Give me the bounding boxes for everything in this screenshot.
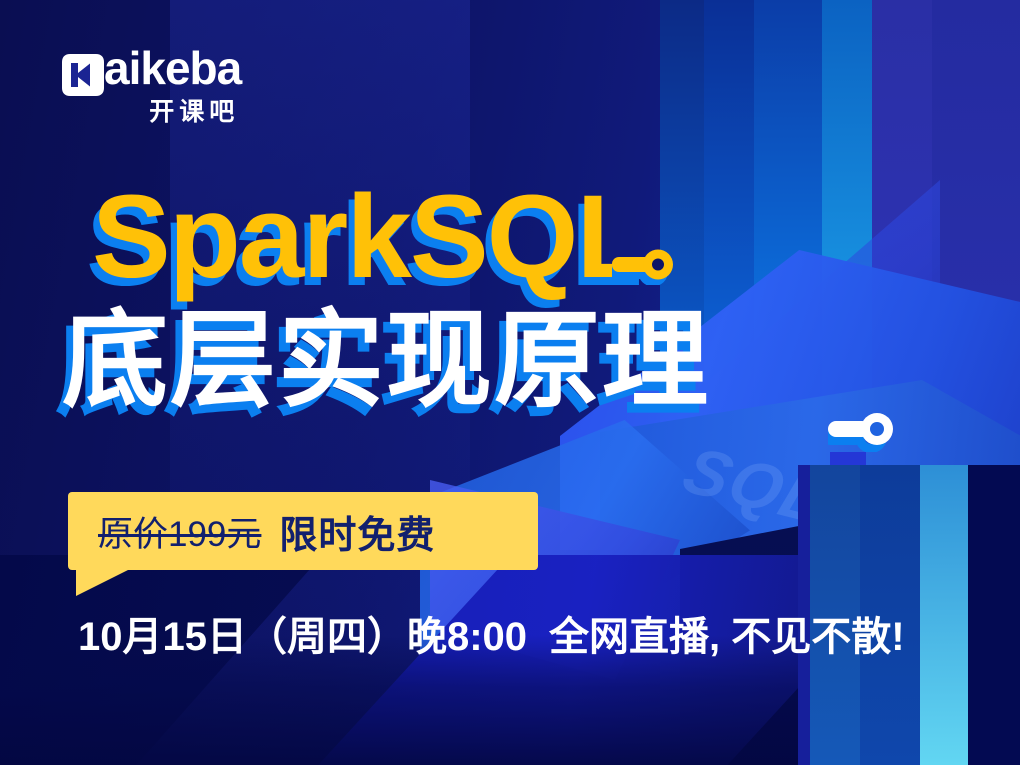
hero-title-english: SparkSQL [92, 178, 647, 296]
price-badge: 原价199元 限时免费 [68, 492, 538, 570]
logo-wordmark: aikeba [104, 46, 241, 90]
promo-banner: SQL aikeba 开课吧 SparkSQL [0, 0, 1020, 765]
ring-period-icon-chinese [828, 408, 900, 452]
schedule-line: 10月15日（周四）晚8:00全网直播, 不见不散! [78, 604, 905, 662]
original-price-text: 原价199元 [98, 506, 261, 557]
schedule-channel: 全网直播, 不见不散! [549, 615, 905, 659]
brand-logo: aikeba 开课吧 [56, 46, 241, 128]
bottom-band-5 [968, 465, 1020, 765]
schedule-date: 10月15日（周四）晚8:00 [78, 615, 527, 659]
logo-text-group: aikeba 开课吧 [114, 46, 241, 128]
logo-chinese-name: 开课吧 [149, 92, 239, 128]
promo-price-text: 限时免费 [279, 504, 435, 559]
play-button-k-logo-icon [56, 48, 110, 102]
hero-title-chinese: 底层实现原理 [62, 308, 710, 414]
bottom-band-cyan [920, 465, 968, 765]
price-badge-wrapper: 原价199元 限时免费 [68, 492, 538, 570]
ring-period-icon-english [612, 245, 678, 285]
